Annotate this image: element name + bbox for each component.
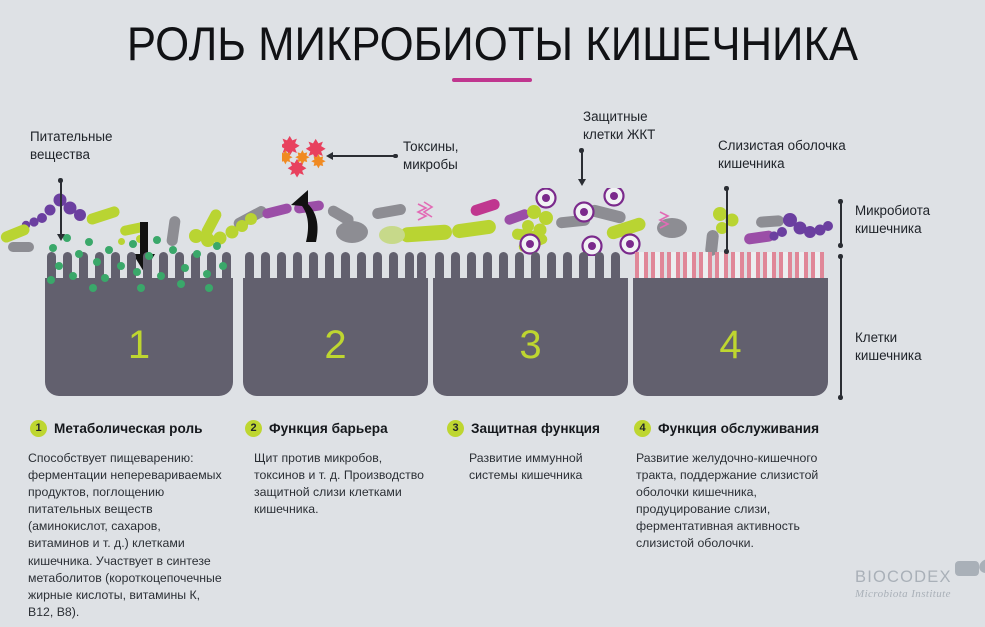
- info-block-2-head: 2 Функция барьера: [245, 420, 440, 437]
- immune-leader-line: [581, 151, 583, 181]
- microbiota-bracket-line: [840, 202, 842, 245]
- label-immune-cells: Защитные клетки ЖКТ: [583, 108, 655, 144]
- label-toxins: Токсины, микробы: [403, 138, 459, 174]
- nutrients-leader-line: [60, 181, 62, 236]
- bacteria-spirochete-1: [418, 202, 432, 220]
- badge-4: 4: [634, 420, 651, 437]
- cells-bracket-line: [840, 257, 842, 397]
- page-title: РОЛЬ МИКРОБИОТЫ КИШЕЧНИКА: [34, 16, 950, 71]
- info-block-3: 3 Защитная функция Развитие иммунной сис…: [447, 420, 632, 484]
- nutrient-particles: [45, 232, 235, 296]
- toxins-leader-dot: [393, 154, 398, 159]
- microbiota-bracket-dot-bottom: [838, 243, 843, 248]
- intestine-panel-2: 2: [243, 252, 428, 396]
- info-block-3-head: 3 Защитная функция: [447, 420, 632, 437]
- info-block-2-title: Функция барьера: [269, 421, 388, 436]
- title-underline: [452, 78, 532, 82]
- cells-bracket-dot-bottom: [838, 395, 843, 400]
- nutrients-leader-arrowhead: [57, 234, 65, 241]
- info-block-1-title: Метаболическая роль: [54, 421, 202, 436]
- info-block-4-title: Функция обслуживания: [658, 421, 819, 436]
- toxins-leader-line: [330, 155, 395, 157]
- panel-number-3: 3: [433, 323, 628, 368]
- intestine-panel-4: 4: [633, 252, 828, 396]
- logo-wordmark: BIOCODEX: [855, 568, 952, 587]
- info-block-3-body: Развитие иммунной системы кишечника: [469, 450, 632, 484]
- infographic-root: РОЛЬ МИКРОБИОТЫ КИШЕЧНИКА: [0, 0, 985, 627]
- info-block-1-head: 1 Метаболическая роль: [30, 420, 235, 437]
- badge-1: 1: [30, 420, 47, 437]
- label-mucus: Слизистая оболочка кишечника: [718, 137, 846, 173]
- immune-leader-arrowhead: [578, 179, 586, 186]
- panel-number-2: 2: [243, 323, 428, 368]
- info-block-1: 1 Метаболическая роль Способствует пищев…: [30, 420, 235, 621]
- info-block-4-body: Развитие желудочно-кишечного тракта, под…: [636, 450, 849, 553]
- info-block-4-head: 4 Функция обслуживания: [634, 420, 849, 437]
- bacteria-cluster-panel2: [371, 198, 542, 244]
- mucus-leader-dot-bottom: [724, 249, 729, 254]
- toxins-leader-arrowhead: [326, 152, 333, 160]
- panel-number-4: 4: [633, 323, 828, 368]
- label-microbiota: Микробиота кишечника: [855, 202, 930, 238]
- toxin-escape-arrow: [286, 178, 326, 244]
- info-block-1-body: Способствует пищеварению: ферментации не…: [28, 450, 235, 621]
- info-block-3-title: Защитная функция: [471, 421, 600, 436]
- info-block-2-body: Щит против микробов, токсинов и т. д. Пр…: [254, 450, 440, 518]
- label-gut-cells: Клетки кишечника: [855, 329, 922, 365]
- badge-3: 3: [447, 420, 464, 437]
- logo-tagline: Microbiota Institute: [855, 588, 952, 600]
- biocodex-logo: BIOCODEX Microbiota Institute: [855, 568, 952, 600]
- mucus-leader-line: [726, 189, 728, 251]
- logo-capsule-icon: [955, 558, 985, 580]
- info-block-4: 4 Функция обслуживания Развитие желудочн…: [634, 420, 849, 553]
- info-block-2: 2 Функция барьера Щит против микробов, т…: [245, 420, 440, 518]
- badge-2: 2: [245, 420, 262, 437]
- panel-number-1: 1: [45, 323, 233, 368]
- label-nutrients: Питательные вещества: [30, 128, 112, 164]
- bacteria-cocci-chain-purple: [22, 194, 86, 230]
- intestine-panel-3: 3: [433, 252, 628, 396]
